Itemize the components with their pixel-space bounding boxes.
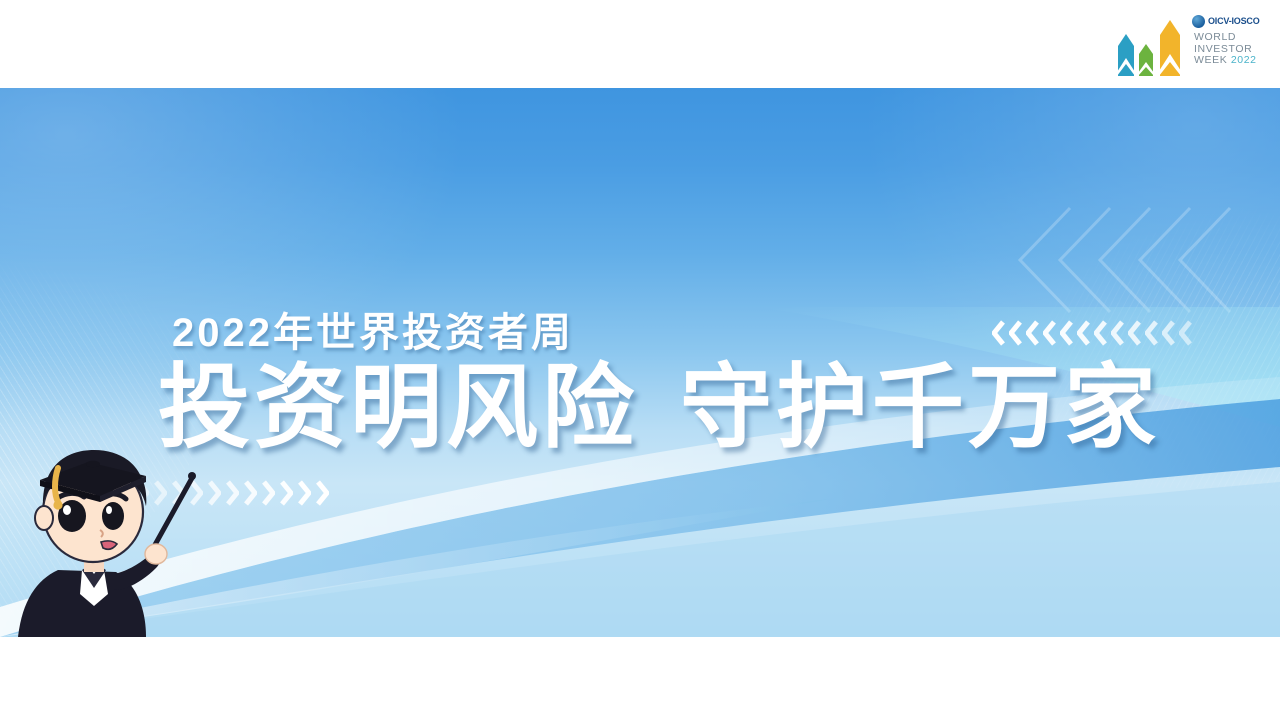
iosco-wordmark: OICV-IOSCO — [1208, 16, 1260, 26]
slide-headline: 投资明风险守护千万家 — [158, 362, 1160, 454]
chevron-left-icon — [1026, 320, 1039, 346]
headline-part-2: 守护千万家 — [680, 357, 1160, 459]
chevron-left-icon — [992, 320, 1005, 346]
globe-icon — [1192, 15, 1205, 28]
chevron-left-icon — [1179, 320, 1192, 346]
wiw-line-1: WORLD — [1194, 32, 1262, 44]
chevron-right-icon — [262, 480, 275, 506]
chevron-left-icon — [1094, 320, 1107, 346]
hero-banner: 2022年世界投资者周 投资明风险守护千万家 — [0, 88, 1280, 637]
wiw-line-3: WEEK 2022 — [1194, 55, 1262, 67]
headline-part-1: 投资明风险 — [158, 357, 638, 459]
chevron-left-icon — [1060, 320, 1073, 346]
chevron-right-icon — [298, 480, 311, 506]
bottom-white-strip: 中国证券投资者保护基金有限责任公司 CHINA SECURITIES INVES… — [0, 637, 1280, 719]
chevron-left-icon — [1162, 320, 1175, 346]
chevron-left-icon — [1009, 320, 1022, 346]
chevron-right-icon — [244, 480, 257, 506]
chevron-left-icon — [1145, 320, 1158, 346]
pencils-icon — [1112, 16, 1190, 78]
wiw-year: 2022 — [1231, 54, 1257, 66]
iosco-logo: OICV-IOSCO — [1192, 14, 1258, 28]
top-white-strip: OICV-IOSCO WORLD INVESTOR WEEK 2022 — [0, 0, 1280, 88]
world-investor-week-logo: OICV-IOSCO WORLD INVESTOR WEEK 2022 — [1112, 6, 1262, 82]
chevron-left-icon — [1043, 320, 1056, 346]
world-investor-week-text: WORLD INVESTOR WEEK 2022 — [1194, 32, 1262, 67]
chevron-left-icon — [1111, 320, 1124, 346]
slide-eyebrow: 2022年世界投资者周 — [172, 300, 574, 358]
graduate-student-mascot — [0, 402, 211, 637]
chevron-right-icon — [316, 480, 329, 506]
chevron-right-icon — [226, 480, 239, 506]
chevron-right-icon — [280, 480, 293, 506]
slide-canvas: OICV-IOSCO WORLD INVESTOR WEEK 2022 — [0, 0, 1280, 719]
chevron-left-icon — [1128, 320, 1141, 346]
chevron-row-left-pointing — [992, 320, 1192, 346]
chevron-left-icon — [1077, 320, 1090, 346]
